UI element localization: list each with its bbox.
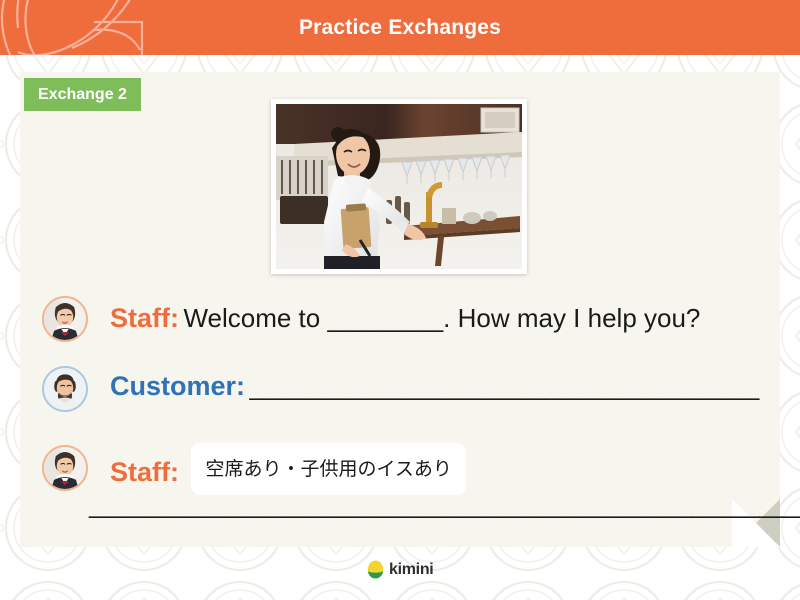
answer-blank-line[interactable]: ________________________________________… xyxy=(89,491,800,520)
staff-avatar-icon xyxy=(42,296,88,342)
staff-avatar-icon xyxy=(42,445,88,491)
customer-avatar-icon xyxy=(42,366,88,412)
speaker-label-staff: Staff: xyxy=(110,303,179,333)
restaurant-staff-photo xyxy=(271,99,527,274)
utterance-text: Welcome to ________. How may I help you? xyxy=(183,303,700,333)
app-header: Practice Exchanges xyxy=(0,0,800,55)
dialogue-text-row: Customer: ______________________________… xyxy=(110,364,759,413)
exchange-badge: Exchange 2 xyxy=(24,78,141,111)
kimini-egg-logo-icon xyxy=(367,560,384,579)
japanese-hint-box: 空席あり・子供用のイスあり xyxy=(191,443,465,495)
speaker-label-customer: Customer: xyxy=(110,371,245,401)
answer-blank-line[interactable]: ______________________________________ xyxy=(249,373,758,401)
footer-brand-name: kimini xyxy=(389,561,433,579)
speaker-label-staff: Staff: xyxy=(110,457,179,487)
footer-brand-logo: kimini xyxy=(0,560,800,579)
dialogue-text-row: Staff: Welcome to ________. How may I he… xyxy=(110,296,700,345)
page-title: Practice Exchanges xyxy=(0,0,800,55)
